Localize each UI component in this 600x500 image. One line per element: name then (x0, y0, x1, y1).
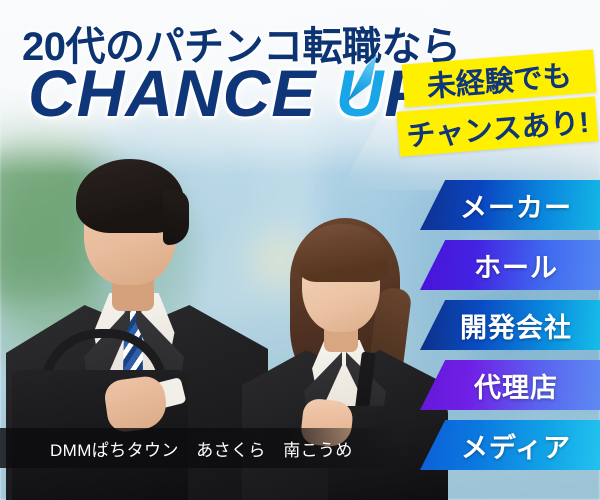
chance-up-logo: CHANCE UP (28, 60, 429, 126)
category-button-hall[interactable]: ホール (420, 240, 600, 290)
category-button-development-company[interactable]: 開発会社 (420, 300, 600, 350)
caption-text: DMMぱちタウン あさくら 南こうめ (0, 436, 353, 461)
category-label-maker: メーカー (460, 186, 572, 225)
category-label-agency: 代理店 (474, 366, 558, 405)
category-label-media: メディア (461, 426, 571, 465)
category-button-media[interactable]: メディア (420, 420, 600, 470)
category-label-hall: ホール (474, 246, 558, 285)
category-button-maker[interactable]: メーカー (420, 180, 600, 230)
logo-u-letter: U (336, 60, 385, 126)
caption-bar: DMMぱちタウン あさくら 南こうめ (0, 428, 400, 468)
category-label-development-company: 開発会社 (460, 306, 572, 345)
category-button-agency[interactable]: 代理店 (420, 360, 600, 410)
male-hair (76, 159, 184, 233)
promo-banner: 20代のパチンコ転職なら CHANCE UP 未経験でも チャンスあり! メーカ… (0, 0, 600, 500)
category-list: メーカー ホール 開発会社 代理店 メディア (420, 180, 600, 480)
logo-chance-text: CHANCE (28, 56, 336, 130)
logo-u-glyph: U (336, 56, 385, 130)
